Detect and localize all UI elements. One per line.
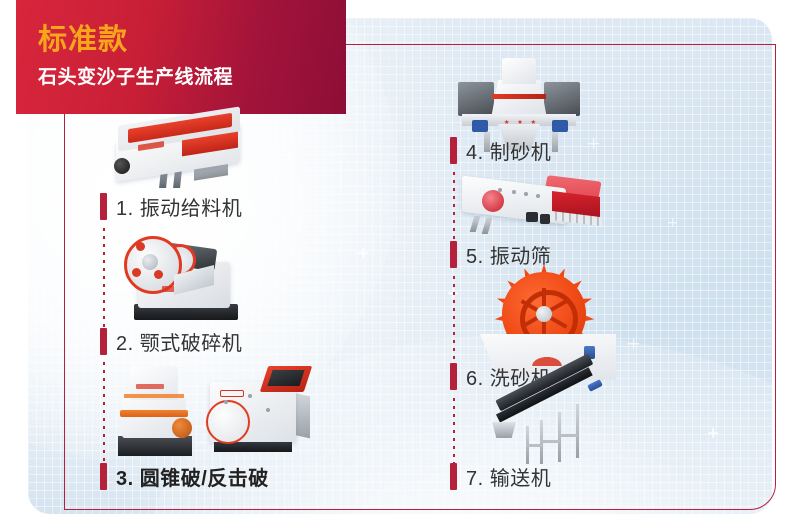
step-marker-icon: [450, 363, 457, 390]
belt-conveyor-image: [492, 392, 622, 470]
step-label-1: 1. 振动给料机: [116, 192, 242, 221]
step-marker-icon: [100, 328, 107, 355]
step-item-4[interactable]: 4. 制砂机: [450, 136, 551, 165]
header-banner: 标准款 石头变沙子生产线流程: [16, 0, 346, 114]
step-marker-icon: [450, 137, 457, 164]
jaw-crusher-image: [118, 228, 258, 324]
step-marker-icon: [450, 241, 457, 268]
vibrating-screen-image: [458, 168, 610, 244]
banner-subtitle: 石头变沙子生产线流程: [38, 67, 346, 90]
step-label-7: 7. 输送机: [466, 462, 551, 491]
infographic-root: 标准款 石头变沙子生产线流程 1. 振动给料机: [0, 0, 800, 530]
vibrating-feeder-image: [108, 112, 258, 192]
step-connector-2: [103, 362, 105, 464]
cone-crusher-image: [114, 362, 204, 458]
step-marker-icon: [100, 193, 107, 220]
step-marker-icon: [450, 463, 457, 490]
step-item-1[interactable]: 1. 振动给料机: [100, 192, 242, 221]
step-connector-6: [453, 398, 455, 464]
step-label-2: 2. 颚式破碎机: [116, 327, 242, 356]
step-connector-5: [453, 276, 455, 362]
sand-making-machine-image: [456, 58, 586, 146]
step-item-2[interactable]: 2. 颚式破碎机: [100, 327, 242, 356]
step-marker-icon: [100, 463, 107, 490]
step-item-3[interactable]: 3. 圆锥破/反击破: [100, 462, 269, 491]
step-connector-1: [103, 228, 105, 336]
impact-crusher-image: [204, 360, 322, 458]
step-connector-4: [453, 172, 455, 244]
step-item-7[interactable]: 7. 输送机: [450, 462, 551, 491]
step-label-3: 3. 圆锥破/反击破: [116, 462, 269, 491]
step-label-4: 4. 制砂机: [466, 136, 551, 165]
banner-title: 标准款: [38, 24, 346, 57]
